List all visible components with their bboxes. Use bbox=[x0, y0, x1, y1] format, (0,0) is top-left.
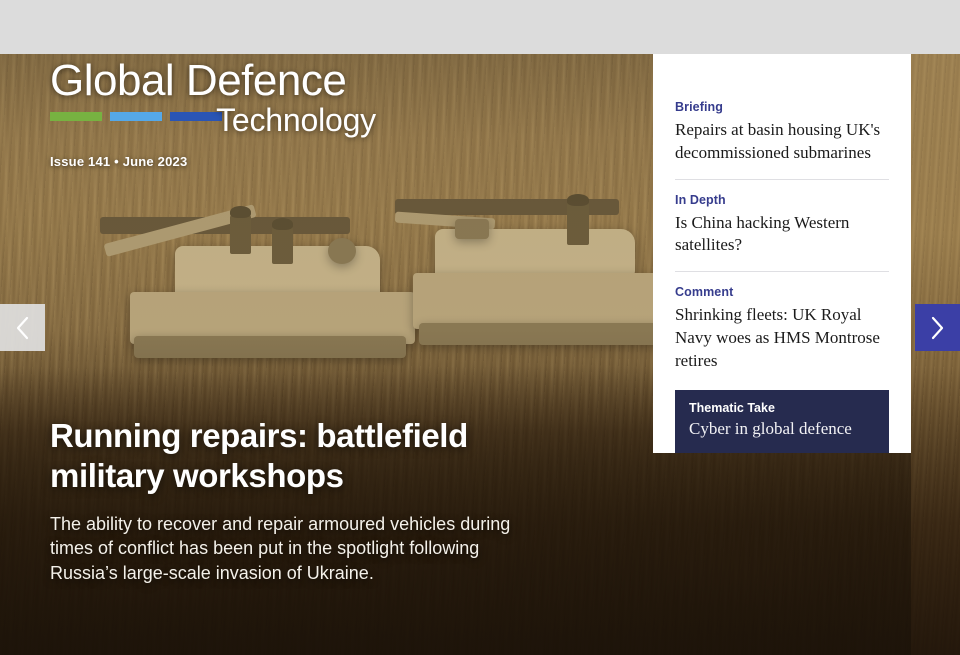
chevron-right-icon bbox=[930, 316, 945, 340]
feature-article-block[interactable]: Running repairs: battlefield military wo… bbox=[50, 416, 550, 585]
sidebar-headline-in-depth[interactable]: Is China hacking Western satellites? bbox=[675, 212, 889, 258]
thematic-take-kicker: Thematic Take bbox=[689, 401, 875, 415]
accent-bar-light-blue bbox=[110, 112, 162, 121]
browser-top-band bbox=[0, 0, 960, 54]
sidebar-divider-1 bbox=[675, 179, 889, 180]
accent-bar-green bbox=[50, 112, 102, 121]
sidebar-kicker-comment: Comment bbox=[675, 285, 889, 299]
sidebar-kicker-briefing: Briefing bbox=[675, 100, 889, 114]
masthead: Global Defence Technology Issue 141 • Ju… bbox=[50, 58, 376, 169]
sidebar-article-panel: Briefing Repairs at basin housing UK's d… bbox=[653, 54, 911, 453]
sidebar-item-briefing[interactable]: Briefing Repairs at basin housing UK's d… bbox=[675, 100, 889, 165]
sidebar-headline-briefing[interactable]: Repairs at basin housing UK's decommissi… bbox=[675, 119, 889, 165]
sidebar-item-in-depth[interactable]: In Depth Is China hacking Western satell… bbox=[675, 193, 889, 258]
feature-standfirst: The ability to recover and repair armour… bbox=[50, 512, 550, 585]
thematic-take-headline[interactable]: Cyber in global defence bbox=[689, 418, 875, 440]
accent-bar-dark-blue bbox=[170, 112, 222, 121]
carousel-next-button[interactable] bbox=[915, 304, 960, 351]
sidebar-headline-comment[interactable]: Shrinking fleets: UK Royal Navy woes as … bbox=[675, 304, 889, 372]
thematic-take-card[interactable]: Thematic Take Cyber in global defence bbox=[675, 390, 889, 453]
carousel-prev-button[interactable] bbox=[0, 304, 45, 351]
hero-photo-right-extension bbox=[911, 54, 960, 655]
sidebar-divider-2 bbox=[675, 271, 889, 272]
sidebar-kicker-in-depth: In Depth bbox=[675, 193, 889, 207]
brand-title-primary: Global Defence bbox=[50, 58, 376, 104]
sidebar-item-comment[interactable]: Comment Shrinking fleets: UK Royal Navy … bbox=[675, 285, 889, 372]
chevron-left-icon bbox=[15, 316, 30, 340]
issue-date-line: Issue 141 • June 2023 bbox=[50, 154, 376, 169]
feature-headline[interactable]: Running repairs: battlefield military wo… bbox=[50, 416, 550, 497]
brand-accent-bars bbox=[50, 112, 222, 121]
magazine-cover-page: Global Defence Technology Issue 141 • Ju… bbox=[0, 0, 960, 655]
